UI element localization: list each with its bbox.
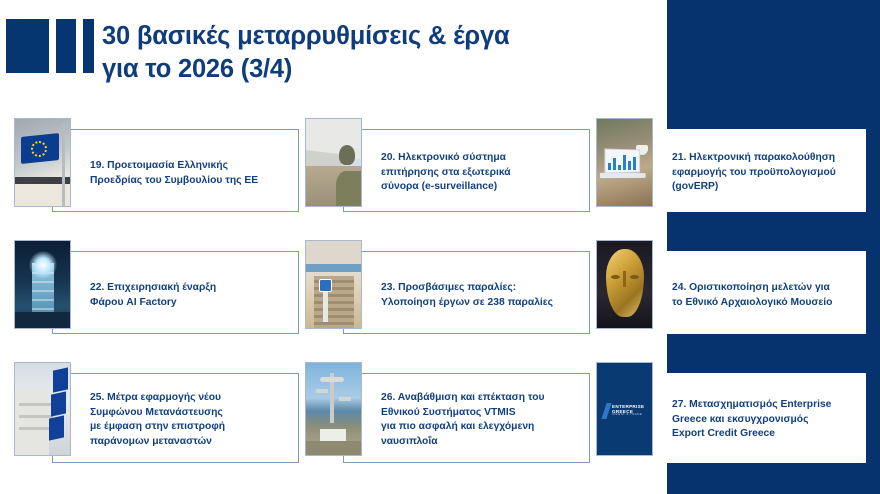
logo-slash-icon [601, 403, 611, 419]
border-road-photo [306, 119, 361, 206]
card-24[interactable]: 24. Οριστικοποίηση μελετών για το Εθνικό… [596, 240, 866, 345]
logo-line-2: INVEST & TRADE [612, 412, 642, 416]
card-20[interactable]: 20. Ηλεκτρονικό σύστημα επιτήρησης στα ε… [305, 118, 590, 223]
card-25-thumb [14, 362, 71, 456]
card-22-label: 22. Επιχειρησιακή έναρξη Φάρου AI Factor… [90, 281, 295, 310]
accessible-beach-photo [306, 241, 361, 328]
eu-flags-building-photo [15, 363, 70, 455]
enterprise-greece-logo: ENTERPRISE GREECE INVEST & TRADE [597, 363, 652, 455]
radar-tower-photo [306, 363, 361, 455]
card-20-label: 20. Ηλεκτρονικό σύστημα επιτήρησης στα ε… [381, 151, 586, 195]
card-19[interactable]: 19. Προετοιμασία Ελληνικής Προεδρίας του… [14, 118, 299, 223]
cards-grid: 19. Προετοιμασία Ελληνικής Προεδρίας του… [0, 0, 880, 494]
card-27-thumb: ENTERPRISE GREECE INVEST & TRADE [596, 362, 653, 456]
card-24-label: 24. Οριστικοποίηση μελετών για το Εθνικό… [672, 281, 870, 310]
laptop-chart-photo [597, 119, 652, 206]
card-26-thumb [305, 362, 362, 456]
card-27-label: 27. Μετασχηματισμός Enterprise Greece κα… [672, 398, 870, 442]
card-23-thumb [305, 240, 362, 329]
lighthouse-photo [15, 241, 70, 328]
card-27[interactable]: ENTERPRISE GREECE INVEST & TRADE 27. Μετ… [596, 362, 866, 474]
card-19-label: 19. Προετοιμασία Ελληνικής Προεδρίας του… [90, 159, 302, 188]
card-24-thumb [596, 240, 653, 329]
card-21-thumb [596, 118, 653, 207]
card-26[interactable]: 26. Αναβάθμιση και επέκταση του Εθνικού … [305, 362, 590, 474]
eu-flag-photo [15, 119, 70, 206]
card-25-label: 25. Μέτρα εφαρμογής νέου Συμφώνου Μετανά… [90, 391, 295, 449]
slide-root: 30 βασικές μεταρρυθμίσεις & έργα για το … [0, 0, 880, 494]
card-20-thumb [305, 118, 362, 207]
card-22[interactable]: 22. Επιχειρησιακή έναρξη Φάρου AI Factor… [14, 240, 299, 345]
card-19-thumb [14, 118, 71, 207]
card-26-label: 26. Αναβάθμιση και επέκταση του Εθνικού … [381, 391, 593, 449]
card-25[interactable]: 25. Μέτρα εφαρμογής νέου Συμφώνου Μετανά… [14, 362, 299, 474]
gold-mask-photo [597, 241, 652, 328]
card-21[interactable]: 21. Ηλεκτρονική παρακολούθηση εφαρμογής … [596, 118, 866, 223]
card-22-thumb [14, 240, 71, 329]
card-23-label: 23. Προσβάσιμες παραλίες: Υλοποίηση έργω… [381, 281, 593, 310]
card-21-label: 21. Ηλεκτρονική παρακολούθηση εφαρμογής … [672, 151, 870, 195]
card-23[interactable]: 23. Προσβάσιμες παραλίες: Υλοποίηση έργω… [305, 240, 590, 345]
